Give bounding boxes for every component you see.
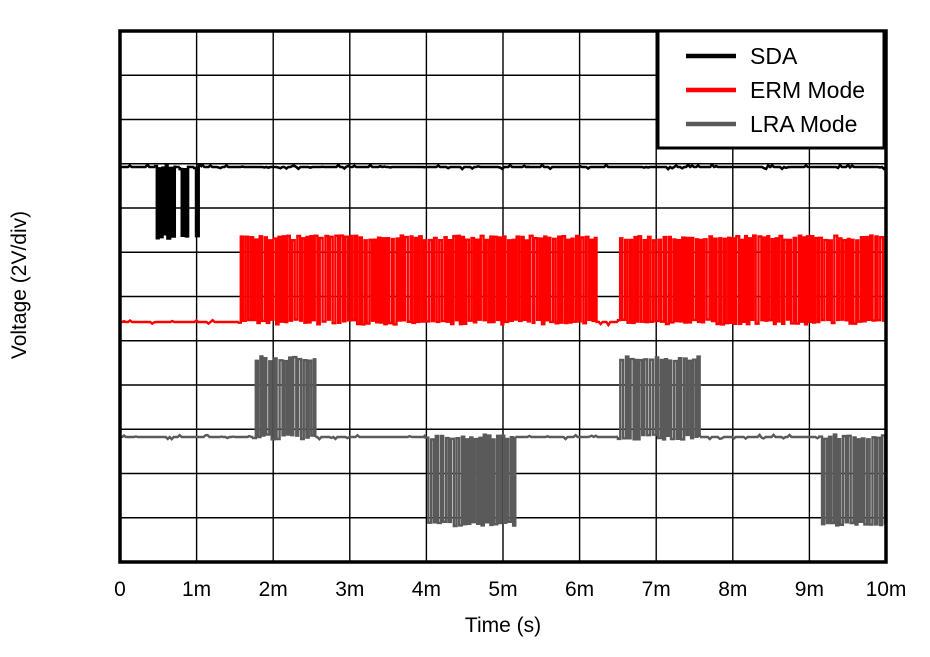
x-axis-label: Time (s) — [120, 614, 886, 638]
x-tick-label: 8m — [703, 578, 763, 602]
x-tick-label: 7m — [626, 578, 686, 602]
chart-figure: Voltage (2V/div) SDAERM ModeLRA Mode 01m… — [0, 0, 930, 657]
x-tick-label: 6m — [550, 578, 610, 602]
legend-label-erm: ERM Mode — [750, 77, 865, 103]
x-tick-label: 2m — [243, 578, 303, 602]
trace-erm — [120, 236, 886, 325]
x-tick-label: 1m — [167, 578, 227, 602]
legend-label-sda: SDA — [750, 43, 798, 69]
legend-label-lra: LRA Mode — [750, 111, 857, 137]
x-tick-label: 10m — [856, 578, 916, 602]
x-tick-label: 5m — [473, 578, 533, 602]
x-tick-label: 3m — [320, 578, 380, 602]
x-tick-label: 9m — [779, 578, 839, 602]
x-tick-label: 4m — [396, 578, 456, 602]
plot-canvas: SDAERM ModeLRA Mode — [0, 0, 930, 657]
x-tick-label: 0 — [90, 578, 150, 602]
chart-legend: SDAERM ModeLRA Mode — [658, 31, 884, 148]
